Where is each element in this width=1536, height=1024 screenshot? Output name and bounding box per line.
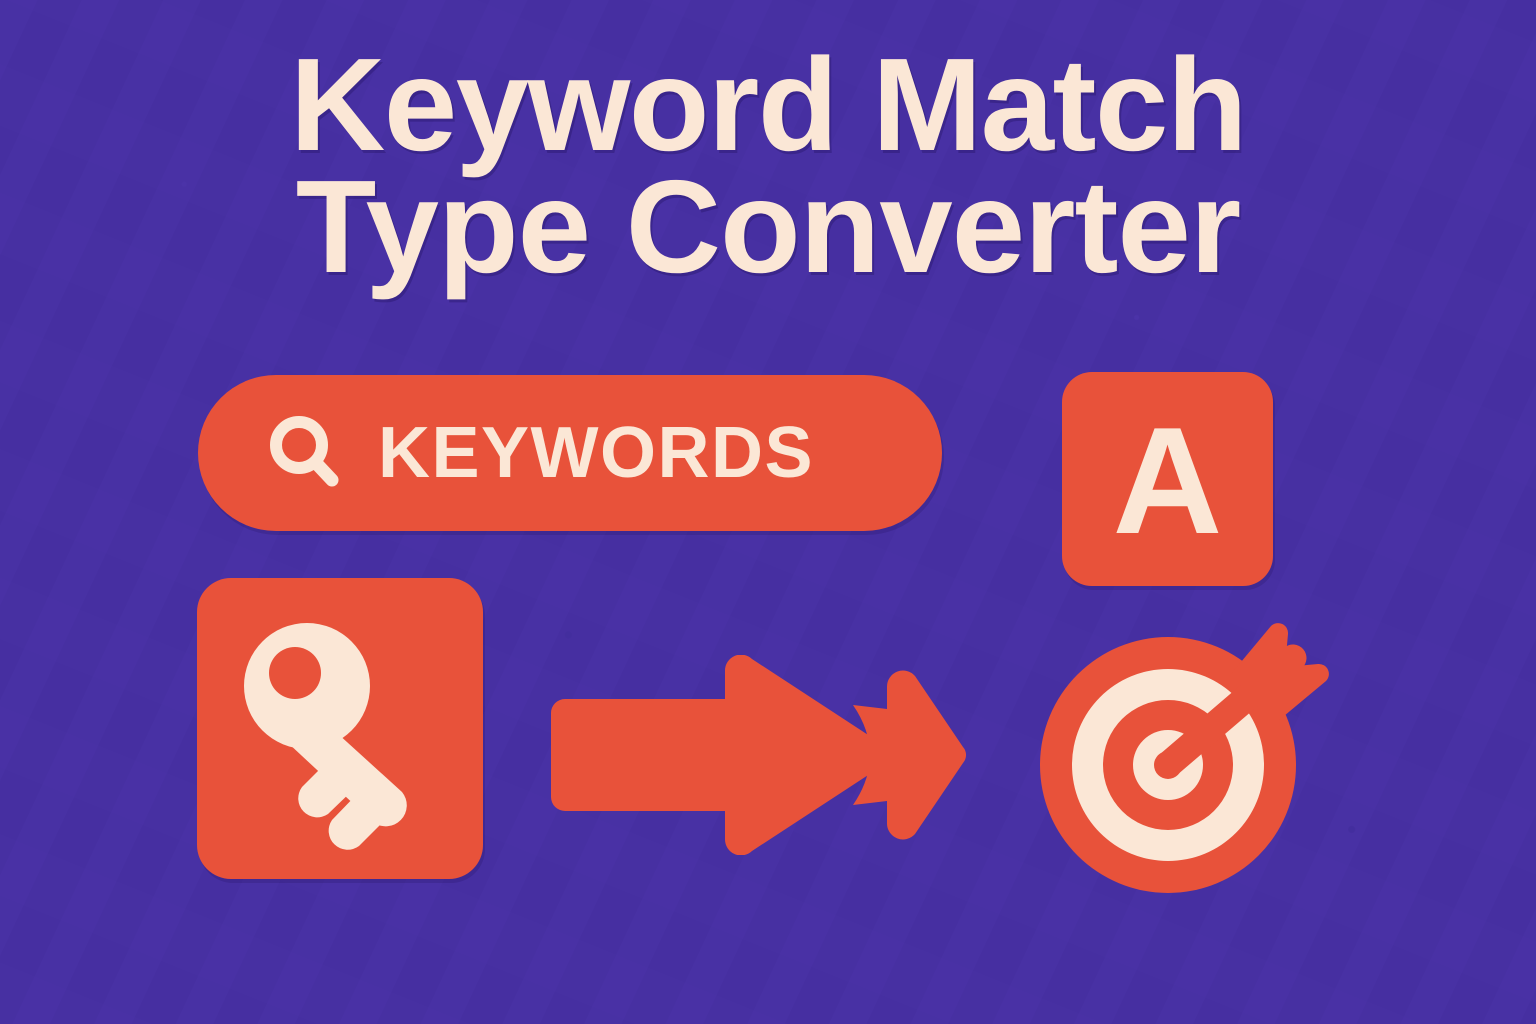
key-icon — [197, 578, 483, 879]
target-bullseye-arrow-icon — [1035, 618, 1341, 900]
keywords-label: KEYWORDS — [378, 417, 814, 489]
letter-a-badge[interactable]: A — [1062, 372, 1273, 586]
page-title-line-2: Type Converter — [0, 166, 1536, 288]
target-card[interactable] — [1035, 618, 1341, 900]
poster-canvas: Keyword Match Type Converter KEYWORDS A — [0, 0, 1536, 1024]
page-title-line-1: Keyword Match — [0, 44, 1536, 166]
letter-a-glyph: A — [1113, 405, 1223, 557]
keywords-search-pill[interactable]: KEYWORDS — [198, 375, 942, 531]
search-icon — [266, 414, 344, 492]
arrow-right-icon — [551, 655, 889, 855]
page-title: Keyword Match Type Converter — [0, 44, 1536, 288]
key-card[interactable] — [197, 578, 483, 879]
arrow-group-svg — [535, 655, 975, 855]
conversion-arrows — [535, 655, 975, 855]
